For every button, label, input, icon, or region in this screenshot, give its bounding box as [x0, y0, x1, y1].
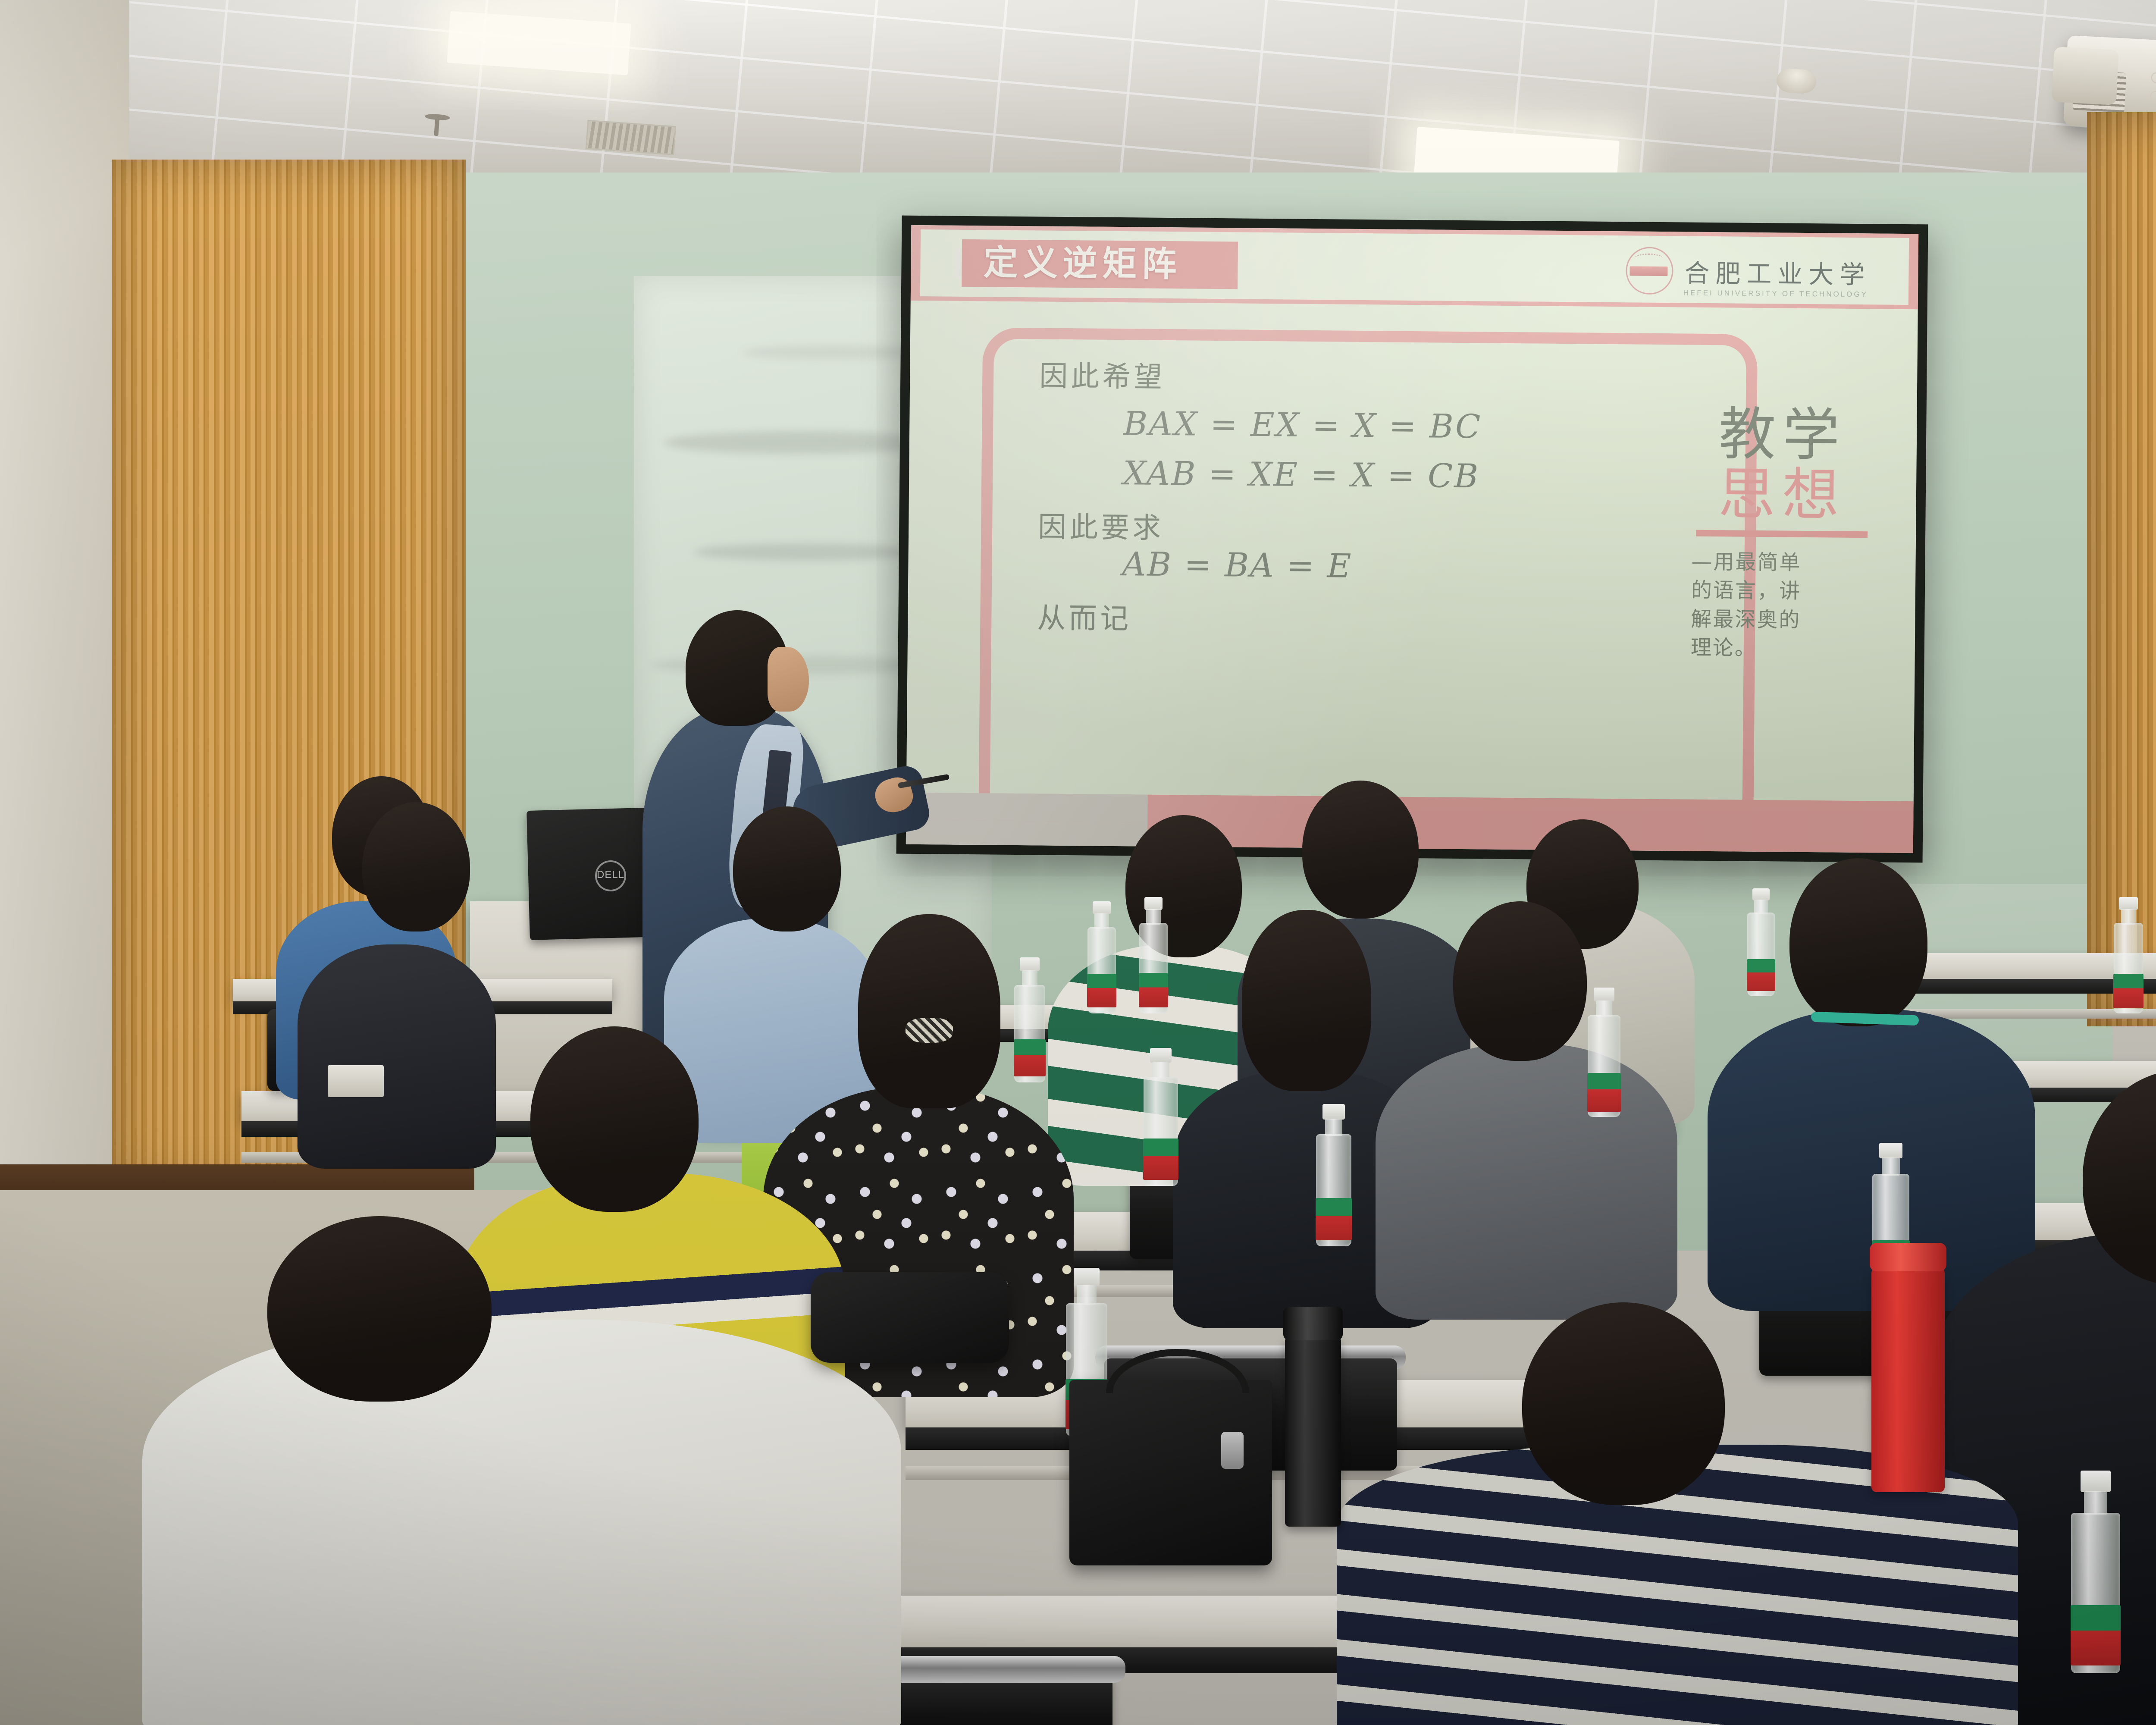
attendee-head [1789, 858, 1927, 1026]
attendee-head [1522, 1302, 1725, 1505]
slide-sidebar-rule [1696, 530, 1868, 538]
tissue-pack[interactable] [328, 1065, 384, 1097]
attendee-head [530, 1026, 699, 1212]
attendee-torso [1376, 1044, 1677, 1320]
hair-clip [906, 1018, 953, 1043]
water-bottle[interactable] [1746, 888, 1776, 996]
handbag[interactable] [1069, 1380, 1272, 1565]
university-seal-icon [1626, 247, 1673, 295]
projector-buttons [2146, 69, 2156, 118]
slide-body-line3: 从而记 [1037, 602, 1667, 640]
sprinkler-icon [430, 114, 443, 137]
university-name-en: HEFEI UNIVERSITY OF TECHNOLOGY [1683, 289, 1868, 299]
wood-slat-wall-right [2087, 112, 2156, 1026]
slide-equation-3: AB = BA = E [1122, 544, 1667, 588]
slide: 定义逆矩阵 合肥工业大学 HEFEI UNIVERSITY OF TECHNOL… [906, 225, 1918, 853]
thermos-cap [1870, 1243, 1946, 1271]
water-bottle[interactable] [1143, 1048, 1179, 1186]
classroom-photograph: 定义逆矩阵 合肥工业大学 HEFEI UNIVERSITY OF TECHNOL… [0, 0, 2156, 1725]
water-bottle[interactable] [1315, 1104, 1352, 1246]
attendee-head [1242, 910, 1371, 1091]
water-bottle[interactable] [1087, 901, 1117, 1013]
slide-title-tick [954, 248, 960, 278]
attendee-head [858, 914, 1000, 1108]
attendee-head [1453, 901, 1587, 1061]
attendee-head [267, 1216, 492, 1402]
slide-sidebar-heading-pink: 思想 [1689, 464, 1875, 525]
slide-body: 因此希望 BAX = EX = X = BC XAB = XE = X = CB… [1037, 360, 1669, 640]
slide-sidebar-note-3: 解最深奥的 [1688, 605, 1874, 635]
shoulder-bag[interactable] [811, 1272, 1009, 1363]
university-name-cn: 合肥工业大学 [1684, 253, 1871, 291]
projector-lens [2052, 47, 2119, 105]
slide-sidebar-note-4: 理论。 [1688, 633, 1874, 663]
water-bottle[interactable] [1138, 897, 1169, 1013]
slide-title: 定义逆矩阵 [983, 243, 1225, 285]
hvac-vent [586, 120, 676, 155]
water-bottle[interactable] [2070, 1471, 2122, 1673]
slide-equation-1: BAX = EX = X = BC [1123, 404, 1669, 448]
slide-sidebar-note-2: 的语言，讲 [1689, 576, 1874, 606]
slide-body-line1: 因此希望 [1039, 360, 1669, 398]
attendee-head [733, 806, 841, 931]
attendee-torso [142, 1320, 901, 1725]
laptop-brand-logo: DELL [595, 860, 626, 891]
attendee-head [362, 802, 470, 931]
black-thermos[interactable] [1285, 1337, 1341, 1527]
slide-bottom-left-block-2 [906, 820, 1147, 847]
slide-body-line2: 因此要求 [1038, 511, 1668, 549]
projection-screen: 定义逆矩阵 合肥工业大学 HEFEI UNIVERSITY OF TECHNOL… [896, 216, 1928, 863]
handbag-clasp [1221, 1432, 1244, 1469]
wall-left [0, 0, 129, 1251]
water-bottle[interactable] [2113, 897, 2144, 1013]
slide-sidebar-heading-gray: 教学 [1690, 405, 1876, 466]
attendee-torso [298, 944, 496, 1169]
red-thermos[interactable] [1871, 1268, 1945, 1492]
water-bottle[interactable] [1013, 957, 1046, 1082]
slide-sidebar-note-1: —用最简单 [1689, 548, 1874, 578]
slide-sidebar: 教学 思想 —用最简单 的语言，讲 解最深奥的 理论。 [1688, 405, 1876, 664]
thermos-cap [1283, 1307, 1343, 1340]
water-bottle[interactable] [1587, 988, 1621, 1117]
slide-equation-2: XAB = XE = X = CB [1123, 453, 1668, 497]
slide-bottom-left-block [906, 793, 1148, 822]
attendee-head [1302, 781, 1419, 919]
